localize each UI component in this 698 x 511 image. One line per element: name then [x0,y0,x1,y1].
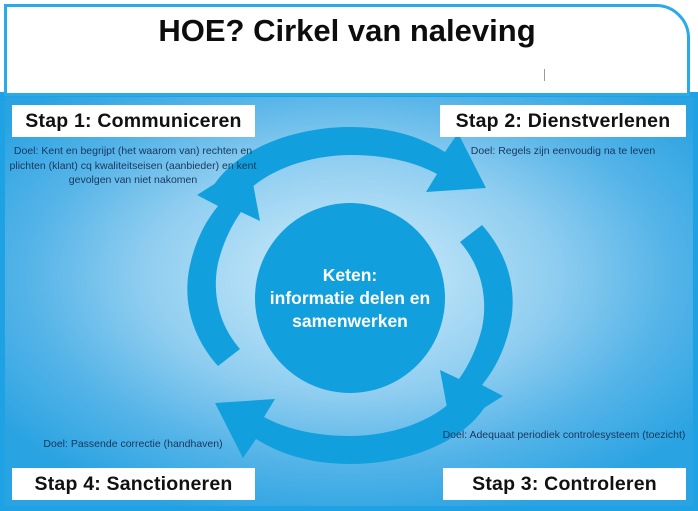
center-circle: Keten: informatie delen en samenwerken [255,203,445,393]
step-4-title-box[interactable]: Stap 4: Sanctioneren [12,468,255,500]
page-title: HOE? Cirkel van naleving [7,13,687,49]
step-2-title: Stap 2: Dienstverlenen [456,110,671,133]
step-3-goal-text: Doel: Adequaat periodiek controlesysteem… [440,428,688,443]
step-2-goal-text: Doel: Regels zijn eenvoudig na te leven [440,144,686,159]
step-4-goal-text: Doel: Passende correctie (handhaven) [8,437,258,452]
step-3-title-box[interactable]: Stap 3: Controleren [443,468,686,500]
text-cursor-caret [544,69,545,81]
title-bar: HOE? Cirkel van naleving [4,4,690,96]
step-4-title: Stap 4: Sanctioneren [35,473,233,496]
step-1-title: Stap 1: Communiceren [25,110,241,133]
step-2-title-box[interactable]: Stap 2: Dienstverlenen [440,105,686,137]
arrow-left-icon [187,162,260,366]
step-1-title-box[interactable]: Stap 1: Communiceren [12,105,255,137]
slide-canvas: Keten: informatie delen en samenwerken S… [0,0,698,511]
step-1-goal-text: Doel: Kent en begrijpt (het waarom van) … [8,144,258,188]
step-3-title: Stap 3: Controleren [472,473,657,496]
center-label: Keten: informatie delen en samenwerken [260,264,440,333]
